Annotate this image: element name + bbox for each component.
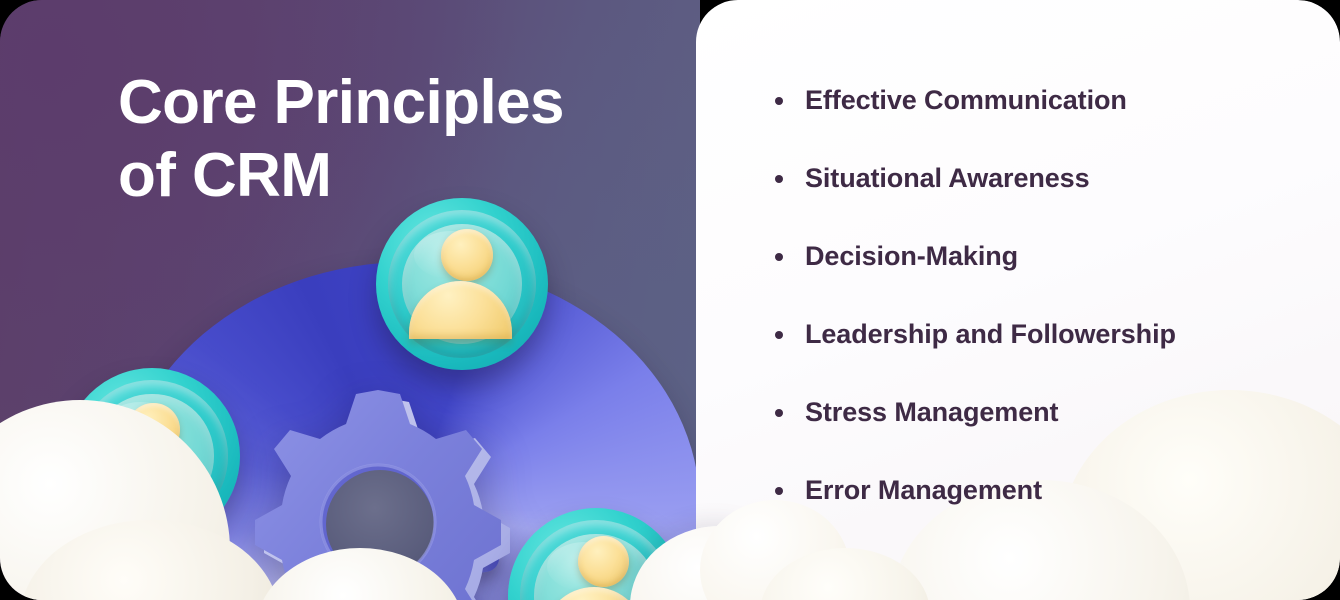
- list-item: Leadership and Followership: [775, 296, 1320, 374]
- right-content-panel: Effective Communication Situational Awar…: [696, 0, 1340, 600]
- left-purple-panel: Core Principles of CRM: [0, 0, 700, 600]
- person-head-icon: [441, 229, 493, 281]
- bullet-icon: [775, 175, 783, 183]
- title-line-1: Core Principles: [118, 68, 564, 137]
- principle-label: Effective Communication: [805, 86, 1127, 116]
- list-item: Error Management: [775, 452, 1320, 530]
- bullet-icon: [775, 97, 783, 105]
- bullet-icon: [775, 487, 783, 495]
- bullet-icon: [775, 331, 783, 339]
- page-title: Core Principles of CRM: [118, 66, 678, 212]
- title-line-2: of CRM: [118, 139, 678, 212]
- list-item: Situational Awareness: [775, 140, 1320, 218]
- list-item: Stress Management: [775, 374, 1320, 452]
- slide-card: Core Principles of CRM Effective Communi…: [0, 0, 1340, 600]
- people-badge-top: [376, 198, 548, 370]
- principle-label: Situational Awareness: [805, 164, 1090, 194]
- person-head-icon: [127, 403, 180, 456]
- people-badge-left: [64, 368, 240, 544]
- principle-label: Decision-Making: [805, 242, 1018, 272]
- principle-label: Stress Management: [805, 398, 1058, 428]
- principle-label: Error Management: [805, 476, 1042, 506]
- bullet-icon: [775, 409, 783, 417]
- title-block: Core Principles of CRM: [118, 66, 678, 212]
- list-item: Decision-Making: [775, 218, 1320, 296]
- principles-list: Effective Communication Situational Awar…: [775, 62, 1320, 530]
- gear-icon: [228, 372, 528, 600]
- list-item: Effective Communication: [775, 62, 1320, 140]
- principle-label: Leadership and Followership: [805, 320, 1176, 350]
- bullet-icon: [775, 253, 783, 261]
